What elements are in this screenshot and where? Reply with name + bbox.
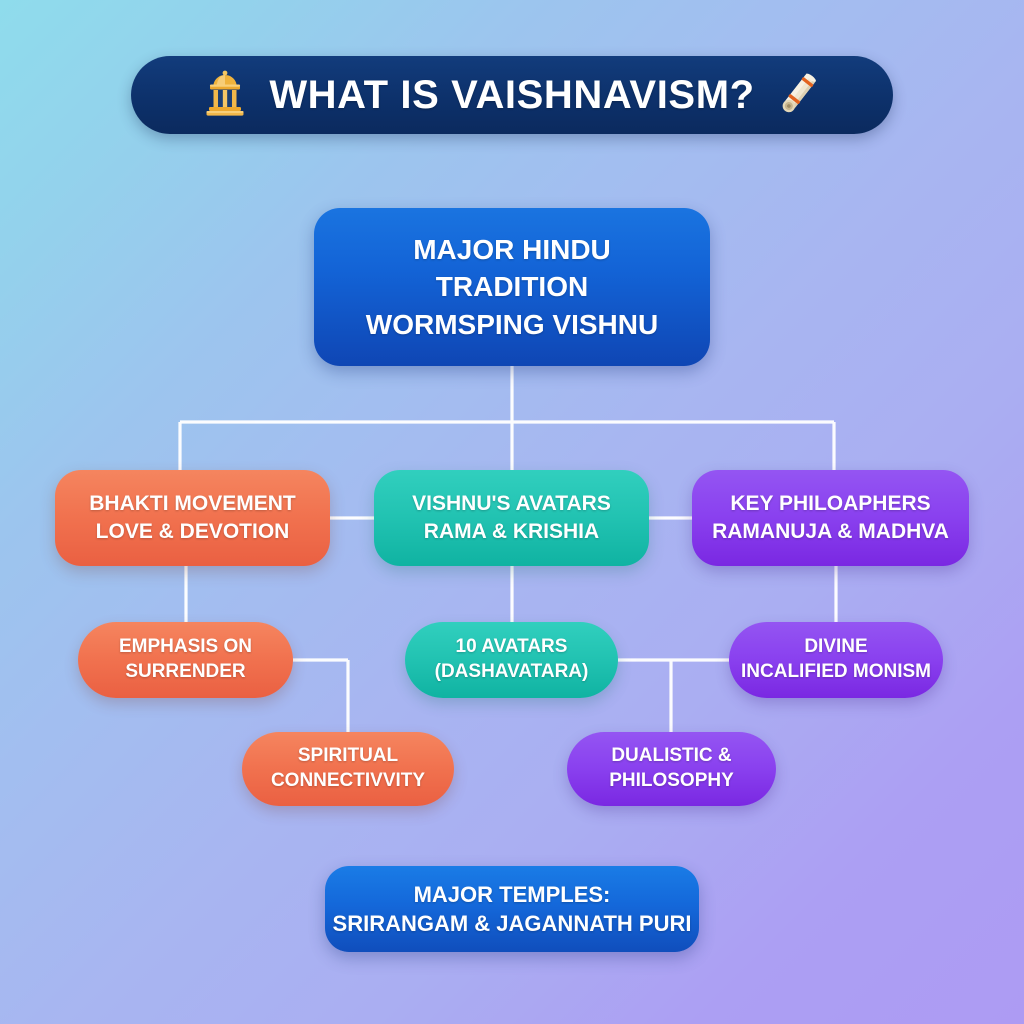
node-temples-line-2: SRIRANGAM & JAGANNATH PURI	[333, 909, 692, 938]
node-avatars-line-1: VISHNU'S AVATARS	[412, 490, 611, 518]
temple-icon	[203, 69, 247, 122]
node-philosophers-line-1: KEY PHILOAPHERS	[730, 490, 930, 518]
title-banner: WHAT IS VAISHNAVISM?	[131, 56, 893, 134]
node-emphasis-on-surrender[interactable]: EMPHASIS ON SURRENDER	[78, 622, 293, 698]
infographic-canvas: WHAT IS VAISHNAVISM?	[0, 0, 1024, 1024]
node-root[interactable]: MAJOR HINDU TRADITION WORMSPING VISHNU	[314, 208, 710, 366]
node-root-line-2: TRADITION	[436, 268, 588, 305]
node-connectivity-line-1: SPIRITUAL	[298, 744, 398, 769]
page-title: WHAT IS VAISHNAVISM?	[269, 73, 754, 118]
node-bhakti-line-2: LOVE & DEVOTION	[96, 518, 290, 546]
node-root-line-3: WORMSPING VISHNU	[366, 306, 658, 343]
node-bhakti-line-1: BHAKTI MOVEMENT	[89, 490, 296, 518]
node-monism-line-2: INCALIFIED MONISM	[741, 660, 931, 685]
node-dashavatara-line-1: 10 AVATARS	[456, 635, 568, 660]
node-monism-line-1: DIVINE	[804, 635, 867, 660]
node-connectivity-line-2: CONNECTIVVITY	[271, 769, 425, 794]
node-spiritual-connectivity[interactable]: SPIRITUAL CONNECTIVVITY	[242, 732, 454, 806]
node-dashavatara-line-2: (DASHAVATARA)	[435, 660, 589, 685]
node-major-temples[interactable]: MAJOR TEMPLES: SRIRANGAM & JAGANNATH PUR…	[325, 866, 699, 952]
node-dualistic-line-1: DUALISTIC &	[611, 744, 731, 769]
node-root-line-1: MAJOR HINDU	[413, 231, 611, 268]
node-dualistic-philosophy[interactable]: DUALISTIC & PHILOSOPHY	[567, 732, 776, 806]
node-vishnus-avatars[interactable]: VISHNU'S AVATARS RAMA & KRISHIA	[374, 470, 649, 566]
scroll-icon	[777, 69, 821, 122]
node-ten-avatars[interactable]: 10 AVATARS (DASHAVATARA)	[405, 622, 618, 698]
node-surrender-line-1: EMPHASIS ON	[119, 635, 252, 660]
node-temples-line-1: MAJOR TEMPLES:	[414, 880, 611, 909]
node-dualistic-line-2: PHILOSOPHY	[609, 769, 734, 794]
node-bhakti-movement[interactable]: BHAKTI MOVEMENT LOVE & DEVOTION	[55, 470, 330, 566]
node-surrender-line-2: SURRENDER	[125, 660, 245, 685]
node-philosophers-line-2: RAMANUJA & MADHVA	[712, 518, 949, 546]
node-key-philosophers[interactable]: KEY PHILOAPHERS RAMANUJA & MADHVA	[692, 470, 969, 566]
node-avatars-line-2: RAMA & KRISHIA	[424, 518, 599, 546]
node-divine-qualified-monism[interactable]: DIVINE INCALIFIED MONISM	[729, 622, 943, 698]
